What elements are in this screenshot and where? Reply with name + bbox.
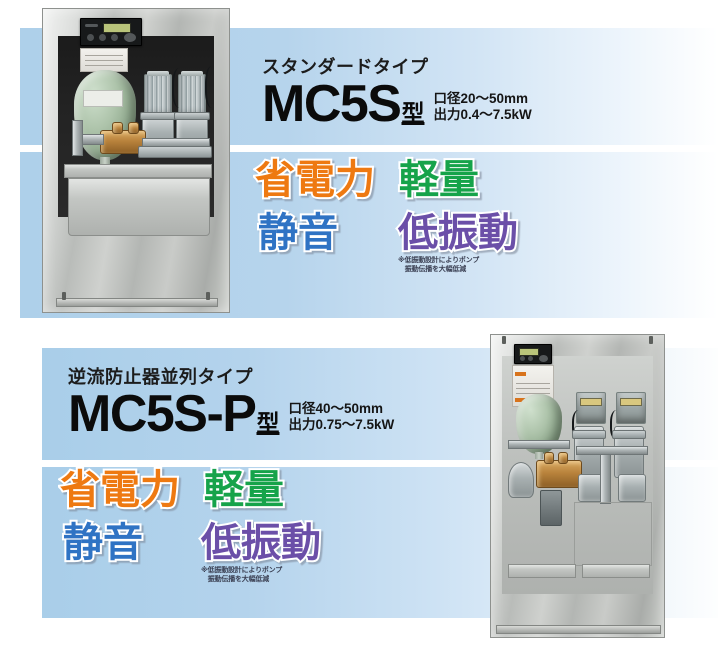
spec-output: 出力0.4〜7.5kW	[433, 107, 531, 123]
drain-tray	[68, 178, 210, 236]
backflow-preventer	[536, 460, 582, 488]
base-rail-left	[508, 564, 576, 578]
drain-funnel	[540, 490, 562, 526]
feature-block-mc5s-p: 省電力 軽量 静音 低振動 ※低振動設計によりポンプ 振動伝播を大幅低減	[60, 470, 321, 585]
feature-note: ※低振動設計によりポンプ 振動伝播を大幅低減	[201, 566, 321, 585]
valve-stem-2	[128, 122, 139, 134]
riser-pipe	[72, 120, 83, 156]
control-button-3	[111, 34, 118, 41]
control-button-2	[99, 34, 106, 41]
inlet-valve	[508, 462, 534, 498]
base-rail-right	[582, 564, 650, 578]
feature-power-saving: 省電力	[60, 470, 180, 510]
control-button-1	[87, 34, 94, 41]
tank-label	[83, 90, 123, 107]
feature-row-1: 省電力 軽量	[60, 470, 321, 510]
motor-cable-2	[205, 66, 221, 108]
feature-row-2: 静音 低振動 ※低振動設計によりポンプ 振動伝播を大幅低減	[255, 213, 518, 275]
test-cock-2	[558, 452, 568, 464]
base-foot	[496, 625, 661, 634]
spec-block: 口径40〜50mm 出力0.75〜7.5kW	[288, 401, 394, 434]
motor-cable-1	[172, 68, 190, 108]
pump-flange-2	[174, 112, 210, 120]
discharge-header	[576, 446, 648, 455]
status-led-strip	[85, 24, 98, 27]
anchor-bolt-left	[502, 336, 506, 344]
spec-bore: 口径40〜50mm	[288, 401, 394, 417]
heading-block-mc5s: スタンダードタイプ MC5S 型 口径20〜50mm 出力0.4〜7.5kW	[262, 58, 532, 127]
navigation-pad	[124, 33, 136, 42]
spec-output: 出力0.75〜7.5kW	[288, 417, 394, 433]
feature-row-2: 静音 低振動 ※低振動設計によりポンプ 振動伝播を大幅低減	[60, 523, 321, 585]
catalog-sheet: スタンダードタイプ MC5S 型 口径20〜50mm 出力0.4〜7.5kW 省…	[0, 0, 718, 654]
check-valve-2	[618, 474, 646, 502]
heading-block-mc5s-p: 逆流防止器並列タイプ MC5S-P 型 口径40〜50mm 出力0.75〜7.5…	[68, 368, 394, 437]
test-cock-1	[544, 452, 554, 464]
product-kicker: スタンダードタイプ	[262, 58, 532, 76]
model-name: MC5S-P	[68, 392, 255, 437]
base-foot	[56, 298, 218, 307]
control-panel	[80, 18, 142, 46]
motor-nameplate-2	[620, 398, 641, 405]
support-frame	[574, 502, 652, 566]
feature-low-vibration: 低振動	[398, 213, 518, 253]
riser-pipe	[600, 454, 611, 504]
motor-nameplate-1	[580, 398, 601, 405]
control-button-1	[520, 356, 525, 361]
product-photo-mc5s-p	[490, 334, 665, 638]
anchor-bolt-left	[62, 292, 66, 300]
inlet-header	[508, 440, 570, 449]
model-name: MC5S	[262, 82, 400, 127]
feature-quiet: 静音	[63, 523, 143, 563]
anchor-bolt-right	[206, 292, 210, 300]
product-panel-mc5s-p: 逆流防止器並列タイプ MC5S-P 型 口径40〜50mm 出力0.75〜7.5…	[0, 330, 718, 654]
pump-flange-1	[140, 112, 176, 120]
model-row: MC5S-P 型 口径40〜50mm 出力0.75〜7.5kW	[68, 392, 394, 437]
pump-flange-2	[612, 430, 646, 439]
model-suffix: 型	[256, 412, 279, 435]
feature-lightweight: 軽量	[204, 470, 284, 510]
control-button-2	[528, 356, 533, 361]
feature-row-1: 省電力 軽量	[255, 160, 518, 200]
feature-note: ※低振動設計によりポンプ 振動伝播を大幅低減	[398, 256, 518, 275]
pump-flange-1	[572, 430, 606, 439]
base-rail	[64, 164, 212, 178]
feature-lightweight: 軽量	[399, 160, 479, 200]
manifold-flange	[138, 146, 212, 158]
navigation-pad	[539, 355, 548, 362]
motor-cap-1	[147, 71, 170, 76]
feature-low-vibration: 低振動	[201, 523, 321, 563]
model-row: MC5S 型 口径20〜50mm 出力0.4〜7.5kW	[262, 82, 532, 127]
lcd-display	[519, 348, 539, 356]
feature-quiet: 静音	[258, 213, 338, 253]
control-panel	[514, 344, 552, 364]
product-panel-mc5s: スタンダードタイプ MC5S 型 口径20〜50mm 出力0.4〜7.5kW 省…	[0, 0, 718, 330]
lcd-display	[103, 23, 131, 33]
product-photo-mc5s	[42, 8, 230, 313]
product-kicker: 逆流防止器並列タイプ	[68, 368, 394, 386]
anchor-bolt-right	[649, 336, 653, 344]
spec-block: 口径20〜50mm 出力0.4〜7.5kW	[433, 91, 531, 124]
feature-power-saving: 省電力	[255, 160, 375, 200]
spec-label-plate	[80, 48, 128, 72]
tank-neck	[535, 452, 542, 459]
spec-bore: 口径20〜50mm	[433, 91, 531, 107]
model-suffix: 型	[401, 102, 424, 125]
valve-stem-1	[112, 122, 123, 134]
feature-block-mc5s: 省電力 軽量 静音 低振動 ※低振動設計によりポンプ 振動伝播を大幅低減	[255, 160, 518, 275]
